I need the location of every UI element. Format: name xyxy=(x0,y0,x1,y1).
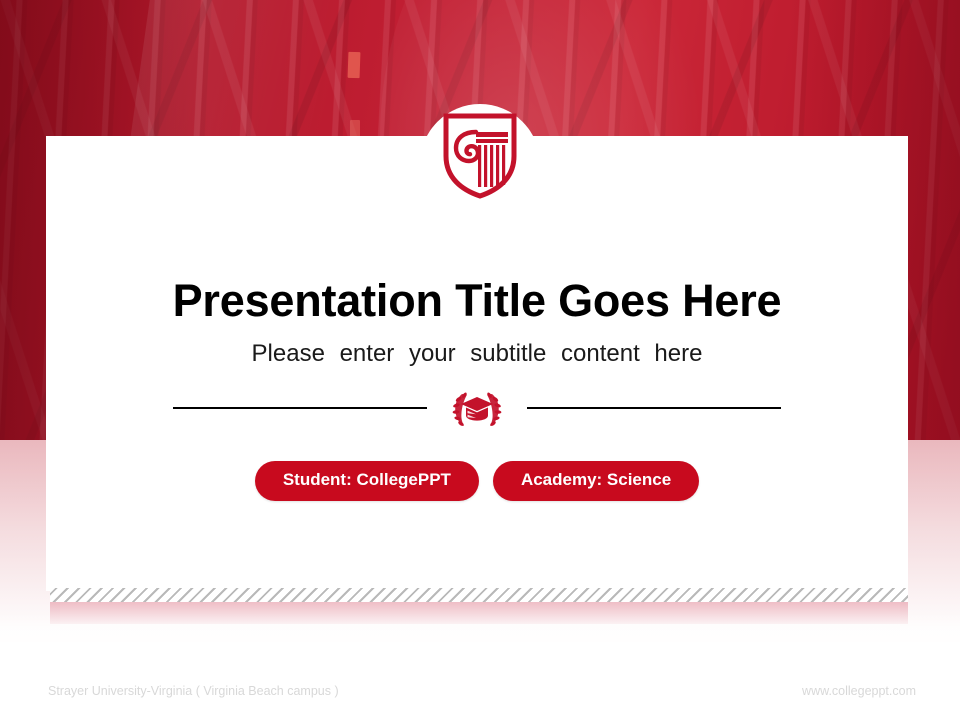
graduation-cap-laurel-icon xyxy=(449,384,505,432)
strayer-shield-column-icon xyxy=(440,110,520,200)
divider-row xyxy=(46,384,908,432)
divider-line-left xyxy=(173,407,427,409)
footer-website[interactable]: www.collegeppt.com xyxy=(802,684,916,698)
academy-tag[interactable]: Academy: Science xyxy=(493,461,699,501)
card-notch-fillet-left xyxy=(392,136,426,170)
band-reflection-right xyxy=(900,440,960,675)
photo-accent-marker xyxy=(348,52,361,78)
divider-line-right xyxy=(527,407,781,409)
page-subtitle: Please enter your subtitle content here xyxy=(46,340,908,368)
student-tag[interactable]: Student: CollegePPT xyxy=(255,461,479,501)
footer-institution: Strayer University-Virginia ( Virginia B… xyxy=(48,684,339,698)
tag-row: Student: CollegePPT Academy: Science xyxy=(46,461,908,501)
card-bottom-hatch-bar xyxy=(50,588,908,602)
card-bottom-pink-band xyxy=(50,602,908,624)
presentation-slide: Presentation Title Goes Here Please ente… xyxy=(0,0,960,720)
page-title: Presentation Title Goes Here xyxy=(46,275,908,327)
card-notch-fillet-right xyxy=(534,136,568,170)
